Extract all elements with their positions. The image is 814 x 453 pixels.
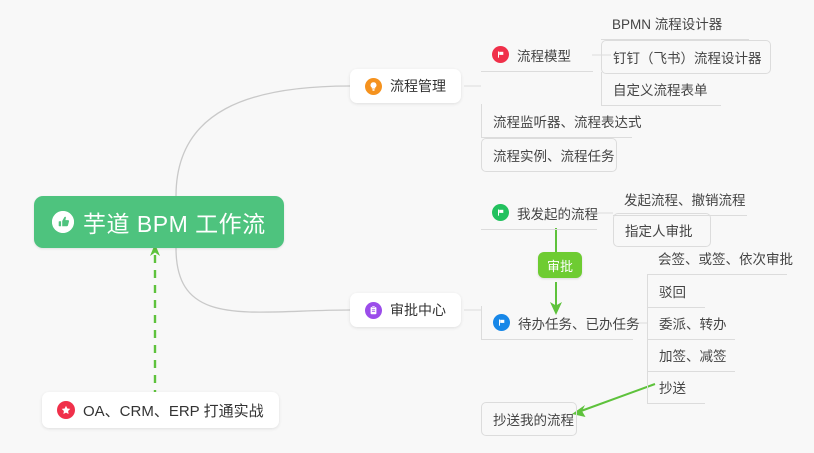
clipboard-icon	[365, 302, 382, 319]
flag-icon	[492, 204, 509, 221]
node-label: 指定人审批	[625, 220, 693, 240]
node-label: 流程模型	[517, 45, 571, 65]
node-add-remove-sign[interactable]: 加签、减签	[647, 338, 735, 372]
thumbs-up-icon	[52, 211, 74, 233]
root-label: 芋道 BPM 工作流	[83, 205, 266, 239]
node-bpmn-designer[interactable]: BPMN 流程设计器	[601, 6, 749, 40]
node-delegate-transfer[interactable]: 委派、转办	[647, 306, 735, 340]
approval-tag[interactable]: 审批	[538, 252, 582, 278]
node-custom-process-form[interactable]: 自定义流程表单	[601, 72, 721, 106]
node-label: 自定义流程表单	[613, 79, 708, 99]
branch-approval-center[interactable]: 审批中心	[350, 293, 461, 327]
node-carbon-copy[interactable]: 抄送	[647, 370, 705, 404]
arrow-cc-to-ccme	[572, 384, 655, 417]
node-label: 发起流程、撤销流程	[624, 189, 746, 209]
node-label: 流程实例、流程任务	[493, 145, 615, 165]
node-label: 委派、转办	[659, 313, 727, 333]
node-label: 抄送	[659, 377, 686, 397]
node-label: 驳回	[659, 281, 686, 301]
flag-icon	[492, 46, 509, 63]
node-label: 会签、或签、依次审批	[658, 248, 793, 268]
star-icon	[57, 401, 75, 419]
node-label: 我发起的流程	[517, 203, 598, 223]
root-node[interactable]: 芋道 BPM 工作流	[34, 196, 284, 248]
node-todo-done-task[interactable]: 待办任务、已办任务	[481, 306, 633, 340]
approval-tag-label: 审批	[547, 256, 573, 275]
node-my-started-process[interactable]: 我发起的流程	[481, 196, 597, 230]
node-label: 抄送我的流程	[493, 409, 574, 429]
node-label: 流程监听器、流程表达式	[493, 111, 642, 131]
footer-card[interactable]: OA、CRM、ERP 打通实战	[42, 392, 279, 428]
node-label: 加签、减签	[659, 345, 727, 365]
link-root-to-approval-center	[176, 248, 350, 312]
branch-process-management[interactable]: 流程管理	[350, 69, 461, 103]
node-label: 钉钉（飞书）流程设计器	[613, 47, 762, 67]
node-dingtalk-feishu-designer[interactable]: 钉钉（飞书）流程设计器	[601, 40, 771, 74]
node-cc-to-me-process[interactable]: 抄送我的流程	[481, 402, 577, 436]
branch-label: 审批中心	[390, 300, 446, 320]
lightbulb-icon	[365, 78, 382, 95]
mindmap-canvas: 芋道 BPM 工作流 流程管理 审批中心	[0, 0, 814, 453]
node-start-cancel-process[interactable]: 发起流程、撤销流程	[613, 182, 747, 216]
node-instance-task[interactable]: 流程实例、流程任务	[481, 138, 617, 172]
footer-card-label: OA、CRM、ERP 打通实战	[83, 400, 264, 421]
flag-icon	[493, 314, 510, 331]
node-label: BPMN 流程设计器	[612, 13, 722, 33]
node-process-model[interactable]: 流程模型	[481, 38, 593, 72]
node-countersign[interactable]: 会签、或签、依次审批	[647, 241, 787, 275]
branch-label: 流程管理	[390, 76, 446, 96]
node-label: 待办任务、已办任务	[518, 313, 640, 333]
link-root-to-process-management	[176, 86, 350, 196]
node-listener-expression[interactable]: 流程监听器、流程表达式	[481, 104, 632, 138]
arrow-footer-to-root	[150, 244, 160, 398]
node-reject[interactable]: 驳回	[647, 274, 705, 308]
